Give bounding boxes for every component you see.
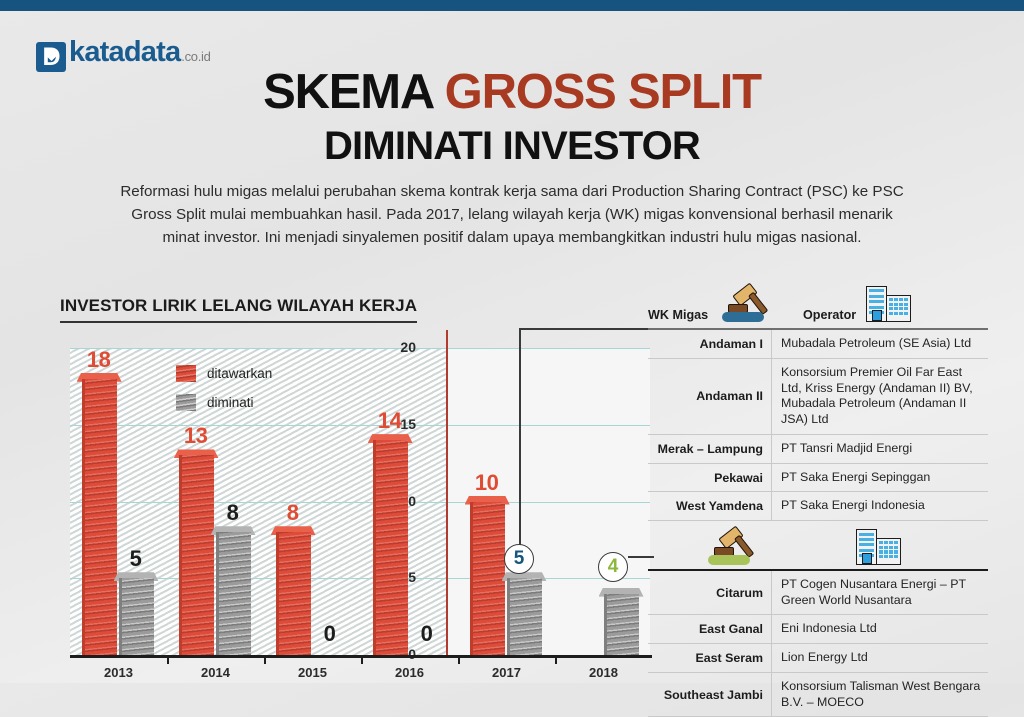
gavel-base-icon — [708, 555, 750, 565]
chart-plot-area — [70, 349, 650, 656]
callout-2017: 5 — [504, 544, 534, 574]
table-cell-wk: East Seram — [648, 644, 772, 672]
table-group-2-rows: CitarumPT Cogen Nusantara Energi – PT Gr… — [648, 571, 988, 717]
table-row[interactable]: West YamdenaPT Saka Energi Indonesia — [648, 492, 988, 521]
x-label-2013: 2013 — [71, 665, 167, 680]
bar-body — [604, 594, 639, 655]
bar-body — [119, 578, 154, 655]
value-label-ditawarkan-2017: 10 — [452, 470, 522, 496]
table-group-1-header: WK Migas Operator — [648, 286, 988, 328]
bar-body — [179, 455, 214, 655]
table-cell-wk: East Ganal — [648, 615, 772, 643]
chart-legend: ditawarkan diminati — [176, 365, 272, 423]
table-cell-operator: PT Tansri Madjid Energi — [772, 435, 988, 463]
callout-2018: 4 — [598, 552, 628, 582]
bar-body — [216, 532, 251, 655]
gavel-icon-group-1 — [720, 286, 774, 322]
value-label-ditawarkan-2013: 18 — [64, 347, 134, 373]
brand-name: katadata — [69, 36, 180, 69]
legend-item-diminati: diminati — [176, 394, 272, 411]
table-group-2-header — [648, 521, 988, 569]
table-row[interactable]: Southeast JambiKonsorsium Talisman West … — [648, 673, 988, 717]
building-tall-icon — [856, 529, 877, 565]
table-cell-wk: Andaman II — [648, 359, 772, 434]
table-row[interactable]: CitarumPT Cogen Nusantara Energi – PT Gr… — [648, 571, 988, 616]
building-short-icon — [876, 538, 901, 565]
wk-operator-table: WK Migas Operator Andaman IMubadala Petr… — [648, 286, 988, 717]
gavel-base-icon — [722, 312, 764, 322]
table-row[interactable]: East SeramLion Energy Ltd — [648, 644, 988, 673]
brand-suffix: .co.id — [181, 49, 210, 64]
gridline-20 — [70, 348, 650, 349]
table-row[interactable]: East GanalEni Indonesia Ltd — [648, 615, 988, 644]
legend-label-diminati: diminati — [207, 395, 254, 410]
table-row[interactable]: PekawaiPT Saka Energi Sepinggan — [648, 464, 988, 493]
bar-diminati-2013 — [119, 578, 154, 655]
lede-paragraph: Reformasi hulu migas melalui perubahan s… — [112, 180, 912, 249]
table-cell-wk: Southeast Jambi — [648, 673, 772, 717]
value-label-diminati-2013: 5 — [101, 546, 171, 572]
bar-diminati-2018 — [604, 594, 639, 655]
headline-black-part: SKEMA — [263, 65, 445, 119]
table-cell-wk: Andaman I — [648, 330, 772, 358]
bar-body — [507, 578, 542, 655]
x-label-2017: 2017 — [459, 665, 555, 680]
table-col2-header: Operator — [803, 308, 856, 322]
legend-item-ditawarkan: ditawarkan — [176, 365, 272, 382]
bar-diminati-2014 — [216, 532, 251, 655]
value-label-diminati-2015: 0 — [295, 621, 365, 647]
building-door-icon — [872, 310, 882, 321]
value-label-ditawarkan-2015: 8 — [258, 500, 328, 526]
y-tick-20: 20 — [376, 339, 416, 355]
legend-label-ditawarkan: ditawarkan — [207, 366, 272, 381]
x-label-2014: 2014 — [168, 665, 264, 680]
gavel-icon-group-2 — [706, 529, 760, 565]
bar-body — [470, 502, 505, 656]
connector-2017-vertical — [519, 330, 521, 555]
chart-year-divider — [446, 330, 448, 658]
building-short-icon — [886, 295, 911, 322]
bar-body — [82, 379, 117, 655]
x-tick-mark-4 — [458, 655, 460, 664]
bar-ditawarkan-2017 — [470, 502, 505, 656]
table-group-1-rows: Andaman IMubadala Petroleum (SE Asia) Lt… — [648, 330, 988, 521]
x-tick-mark-2 — [264, 655, 266, 664]
bar-diminati-2017 — [507, 578, 542, 655]
legend-swatch-red-icon — [176, 365, 196, 382]
table-cell-wk: Citarum — [648, 571, 772, 615]
table-col1-header: WK Migas — [648, 308, 708, 322]
value-label-ditawarkan-2014: 13 — [161, 423, 231, 449]
headline-line-2: DIMINATI INVESTOR — [0, 124, 1024, 169]
table-cell-operator: Lion Energy Ltd — [772, 644, 988, 672]
x-tick-mark-3 — [361, 655, 363, 664]
table-cell-operator: PT Cogen Nusantara Energi – PT Green Wor… — [772, 571, 988, 615]
bar-ditawarkan-2014 — [179, 455, 214, 655]
building-tall-icon — [866, 286, 887, 322]
table-cell-operator: PT Saka Energi Indonesia — [772, 492, 988, 520]
top-accent-bar — [0, 0, 1024, 11]
connector-2017-horizontal — [519, 328, 654, 330]
table-cell-wk: Merak – Lampung — [648, 435, 772, 463]
x-tick-mark-1 — [167, 655, 169, 664]
table-cell-operator: Konsorsium Premier Oil Far East Ltd, Kri… — [772, 359, 988, 434]
building-icon-group-2 — [854, 529, 904, 565]
table-cell-operator: Eni Indonesia Ltd — [772, 615, 988, 643]
table-cell-wk: Pekawai — [648, 464, 772, 492]
x-label-2015: 2015 — [265, 665, 361, 680]
chart-title: INVESTOR LIRIK LELANG WILAYAH KERJA — [60, 296, 417, 323]
headline-line-1: SKEMA GROSS SPLIT — [0, 68, 1024, 118]
brand-logo: D katadata .co.id — [36, 36, 211, 69]
gridline-10 — [70, 502, 650, 503]
table-row[interactable]: Andaman IIKonsorsium Premier Oil Far Eas… — [648, 359, 988, 435]
headline-red-part: GROSS SPLIT — [445, 65, 761, 119]
x-tick-mark-5 — [555, 655, 557, 664]
x-label-2018: 2018 — [556, 665, 652, 680]
table-row[interactable]: Merak – LampungPT Tansri Madjid Energi — [648, 435, 988, 464]
table-row[interactable]: Andaman IMubadala Petroleum (SE Asia) Lt… — [648, 330, 988, 359]
building-icon-group-1 — [864, 286, 914, 322]
table-cell-operator: PT Saka Energi Sepinggan — [772, 464, 988, 492]
value-label-diminati-2016: 0 — [392, 621, 462, 647]
x-label-2016: 2016 — [362, 665, 458, 680]
table-cell-wk: West Yamdena — [648, 492, 772, 520]
table-cell-operator: Konsorsium Talisman West Bengara B.V. – … — [772, 673, 988, 717]
legend-swatch-grey-icon — [176, 394, 196, 411]
building-door-icon — [862, 553, 872, 564]
value-label-ditawarkan-2016: 14 — [355, 408, 425, 434]
bar-ditawarkan-2013 — [82, 379, 117, 655]
table-cell-operator: Mubadala Petroleum (SE Asia) Ltd — [772, 330, 988, 358]
